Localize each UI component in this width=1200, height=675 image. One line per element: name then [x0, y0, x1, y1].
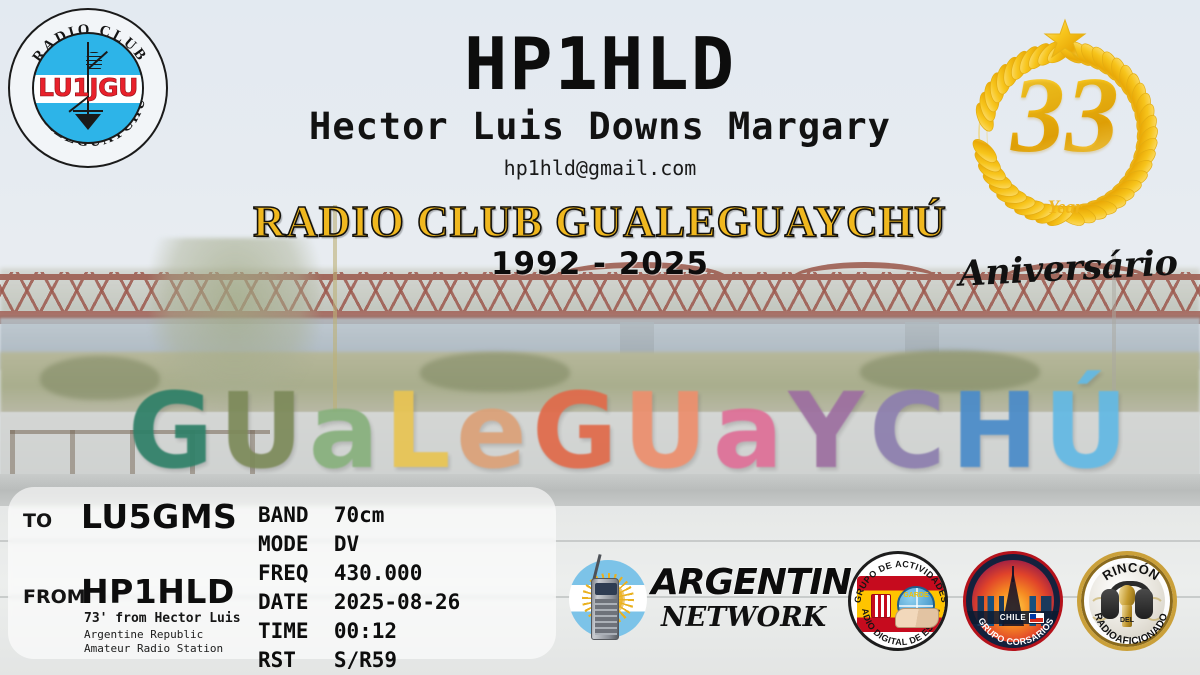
- argentina-network-logo: ARGENTINA NETWORK: [565, 552, 855, 652]
- qso-detail-key: BAND: [258, 501, 321, 530]
- radio-keypad: [595, 599, 617, 635]
- from-label: FROM: [23, 586, 86, 608]
- monument-letter: a: [309, 384, 379, 480]
- monument-letters: GUaLeGUaYCHÚ: [128, 360, 1128, 480]
- monument-letter: U: [219, 384, 303, 480]
- radio-screen: [595, 583, 617, 595]
- qso-detail-value: 00:12: [321, 619, 397, 643]
- qso-detail-key: MODE: [258, 530, 321, 559]
- qso-detail-key: DATE: [258, 588, 321, 617]
- anniversary-number: 33: [945, 62, 1185, 170]
- badge-middle-label: DEL: [1081, 617, 1173, 624]
- svg-text:RINCÓN: RINCÓN: [1100, 560, 1163, 584]
- qso-detail-row: FREQ 430.000: [258, 559, 460, 588]
- monument-letter: G: [532, 384, 617, 480]
- badge-corsarios-arc-text: GRUPO CORSARIOS: [966, 554, 1063, 651]
- qso-detail-row: DATE 2025-08-26: [258, 588, 460, 617]
- qso-info-panel: TO LU5GMS FROM HP1HLD 73' from Hector Lu…: [8, 487, 556, 659]
- qso-detail-value: DV: [321, 532, 359, 556]
- qso-detail-key: TIME: [258, 617, 321, 646]
- qso-detail-key: RST: [258, 646, 321, 675]
- badge-rincon-arc-text: RINCÓN RADIOAFICIONADO: [1081, 555, 1177, 651]
- svg-text:GRUPO CORSARIOS: GRUPO CORSARIOS: [976, 616, 1055, 647]
- qso-detail-value: 70cm: [321, 503, 384, 527]
- monument-letter: Y: [788, 384, 863, 480]
- qso-note-line-3: Amateur Radio Station: [84, 642, 223, 655]
- club-logo-callsign: LU1JGU: [10, 73, 166, 102]
- qso-note-line-1: 73' from Hector Luis: [84, 611, 241, 626]
- qso-details-list: BAND 70cmMODE DVFREQ 430.000DATE 2025-08…: [258, 501, 460, 675]
- anniversary-year-label: Year: [945, 197, 1185, 219]
- qso-detail-row: RST S/R59: [258, 646, 460, 675]
- badge-spain-arc-text: GRUPO DE ACTIVIDADES RADIO DIGITAL DE ES…: [851, 554, 948, 651]
- qso-note-line-2: Argentine Republic: [84, 628, 203, 641]
- monument-letter: G: [128, 384, 213, 480]
- qso-detail-value: 2025-08-26: [321, 590, 460, 614]
- qso-detail-row: TIME 00:12: [258, 617, 460, 646]
- monument-letter: L: [384, 384, 450, 480]
- to-label: TO: [23, 510, 52, 532]
- qso-detail-value: 430.000: [321, 561, 422, 585]
- qso-detail-value: S/R59: [321, 648, 397, 672]
- monument-letter: Ú: [1044, 384, 1128, 480]
- badge-rincon-del-radioaficionado: DEL RINCÓN RADIOAFICIONADO: [1077, 551, 1177, 651]
- argentina-network-title: ARGENTINA: [651, 562, 878, 603]
- badge-grupo-actividades-radio-digital-espana: GARDE GRUPO DE ACTIVIDADES RADIO DIGITAL…: [848, 551, 948, 651]
- from-callsign: HP1HLD: [81, 572, 235, 611]
- to-callsign: LU5GMS: [81, 497, 237, 536]
- monument-letter: a: [713, 384, 783, 480]
- qso-detail-row: BAND 70cm: [258, 501, 460, 530]
- monument-letter: C: [869, 384, 945, 480]
- badge-grupo-corsarios-chile: CHILE GRUPO CORSARIOS: [963, 551, 1063, 651]
- qsl-card: GUaLeGUaYCHÚ RADIO CLUB GUALEGUAYCHU LU1…: [0, 0, 1200, 675]
- handheld-radio-icon: [591, 578, 619, 640]
- qso-detail-row: MODE DV: [258, 530, 460, 559]
- argentina-network-subtitle: NETWORK: [661, 602, 826, 633]
- anniversary-badge: 33 Year: [945, 14, 1185, 254]
- badge-center-text: GARDE: [899, 592, 933, 599]
- monument-letter: U: [623, 384, 707, 480]
- monument-letter: H: [951, 384, 1038, 480]
- qso-callsigns: TO LU5GMS FROM HP1HLD 73' from Hector Lu…: [8, 487, 258, 659]
- handshake-icon: [895, 608, 939, 628]
- qso-detail-key: FREQ: [258, 559, 321, 588]
- monument-letter: e: [456, 384, 527, 480]
